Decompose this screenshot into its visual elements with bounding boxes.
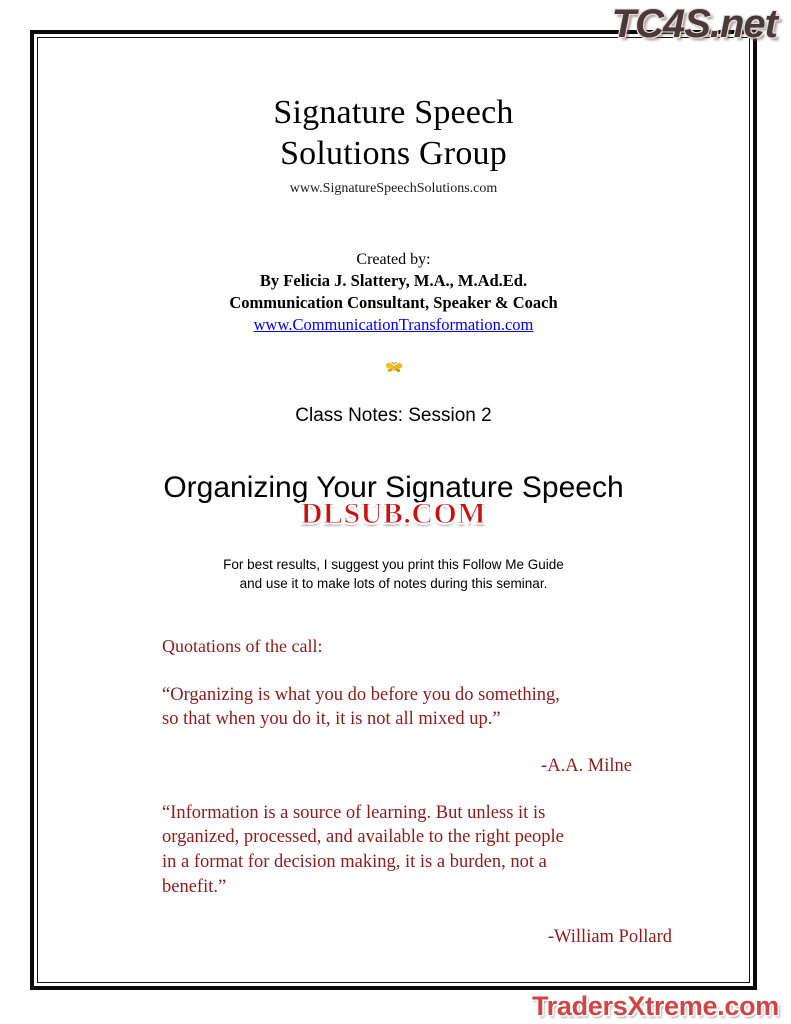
author-name: By Felicia J. Slattery, M.A., M.Ad.Ed. xyxy=(47,270,740,292)
title-block: Signature Speech Solutions Group www.Sig… xyxy=(47,92,740,197)
quote-1-attribution: -A.A. Milne xyxy=(162,756,700,777)
author-website-link[interactable]: www.CommunicationTransformation.com xyxy=(254,315,534,335)
document-title-line-1: Signature Speech xyxy=(47,92,740,133)
quote-2-line-2: organized, processed, and available to t… xyxy=(162,825,632,850)
main-heading: Organizing Your Signature Speech xyxy=(47,471,740,505)
quotations-block: Quotations of the call: “Organizing is w… xyxy=(47,636,740,949)
session-label: Class Notes: Session 2 xyxy=(47,405,740,427)
company-website: www.SignatureSpeechSolutions.com xyxy=(47,181,740,197)
quote-2-attribution: -William Pollard xyxy=(162,927,700,948)
quote-2-line-1: “Information is a source of learning. Bu… xyxy=(162,801,632,826)
author-role: Communication Consultant, Speaker & Coac… xyxy=(47,292,740,314)
instructions-line-2: and use it to make lots of notes during … xyxy=(47,574,740,594)
watermark-tradersxtreme: TradersXtreme.com xyxy=(532,991,779,1022)
main-heading-block: Organizing Your Signature Speech DLSUB.C… xyxy=(47,471,740,539)
quotations-label: Quotations of the call: xyxy=(162,636,700,657)
quote-item-1: “Organizing is what you do before you do… xyxy=(162,683,700,777)
document-page: Signature Speech Solutions Group www.Sig… xyxy=(0,0,791,1024)
instructions-block: For best results, I suggest you print th… xyxy=(47,555,740,594)
butterfly-icon xyxy=(383,358,405,375)
quote-2-line-3: in a format for decision making, it is a… xyxy=(162,850,632,875)
quote-1-line-1: “Organizing is what you do before you do… xyxy=(162,683,632,708)
quote-1-line-2: so that when you do it, it is not all mi… xyxy=(162,707,632,732)
author-block: Created by: By Felicia J. Slattery, M.A.… xyxy=(47,249,740,335)
created-by-label: Created by: xyxy=(47,249,740,270)
quote-item-2: “Information is a source of learning. Bu… xyxy=(162,801,700,948)
ornament-block xyxy=(47,357,740,383)
instructions-line-1: For best results, I suggest you print th… xyxy=(47,555,740,575)
document-title-line-2: Solutions Group xyxy=(47,133,740,174)
page-content: Signature Speech Solutions Group www.Sig… xyxy=(47,47,740,973)
quote-2-line-4: benefit.” xyxy=(162,875,632,900)
